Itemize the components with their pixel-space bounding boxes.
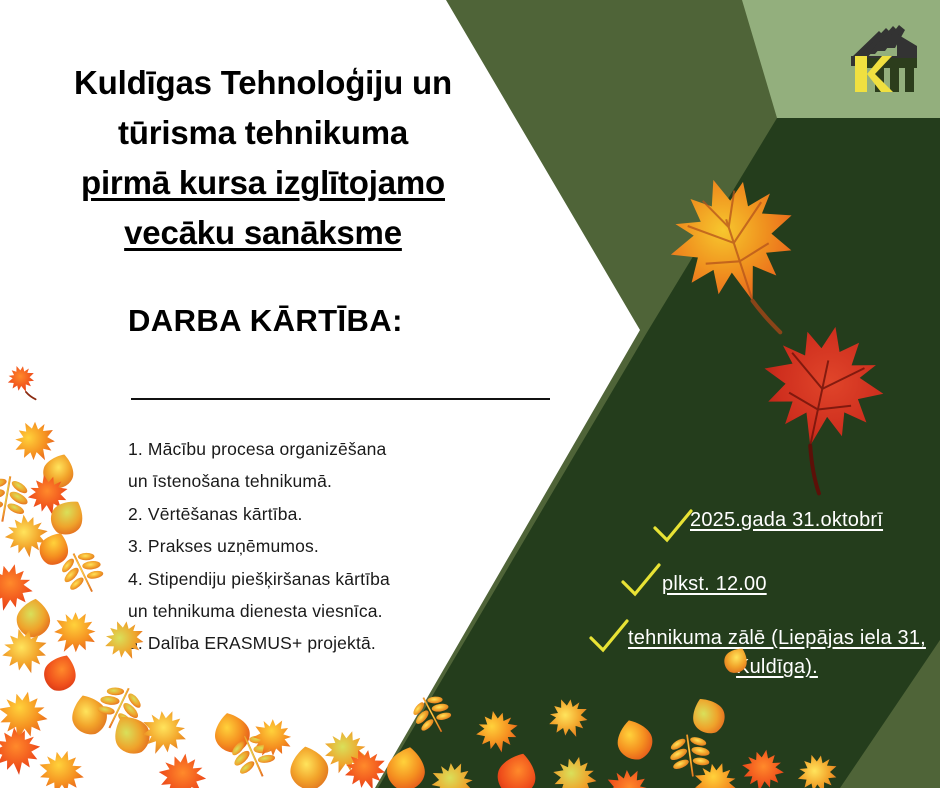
autumn-leaves-cluster [0, 413, 843, 788]
maple-leaf-small [4, 361, 43, 406]
maple-leaf-orange [653, 160, 825, 357]
maple-leaf-red [741, 314, 894, 502]
leaf-accent-location [720, 643, 753, 677]
decor-leaves [0, 0, 940, 788]
poster-canvas: Kuldīgas Tehnoloģiju un tūrisma tehnikum… [0, 0, 940, 788]
